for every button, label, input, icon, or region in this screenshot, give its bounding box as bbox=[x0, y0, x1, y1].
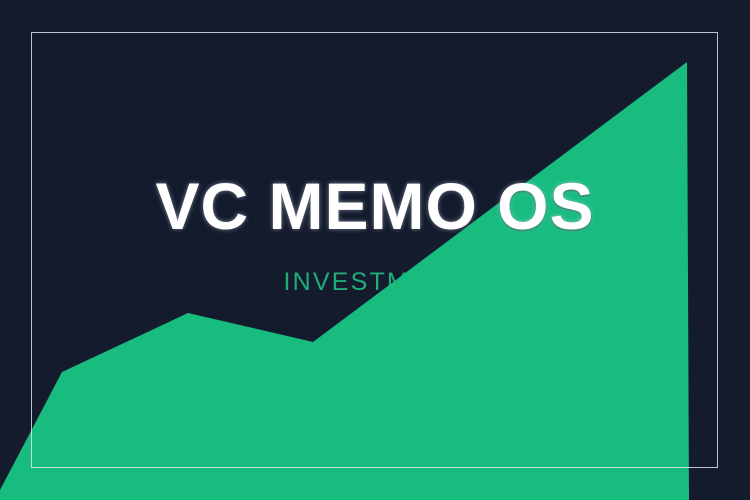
growth-area-chart bbox=[0, 0, 750, 500]
hero-banner: VC MEMO OS INVESTMENT bbox=[0, 0, 750, 500]
area-series-growth-curve bbox=[0, 62, 689, 500]
